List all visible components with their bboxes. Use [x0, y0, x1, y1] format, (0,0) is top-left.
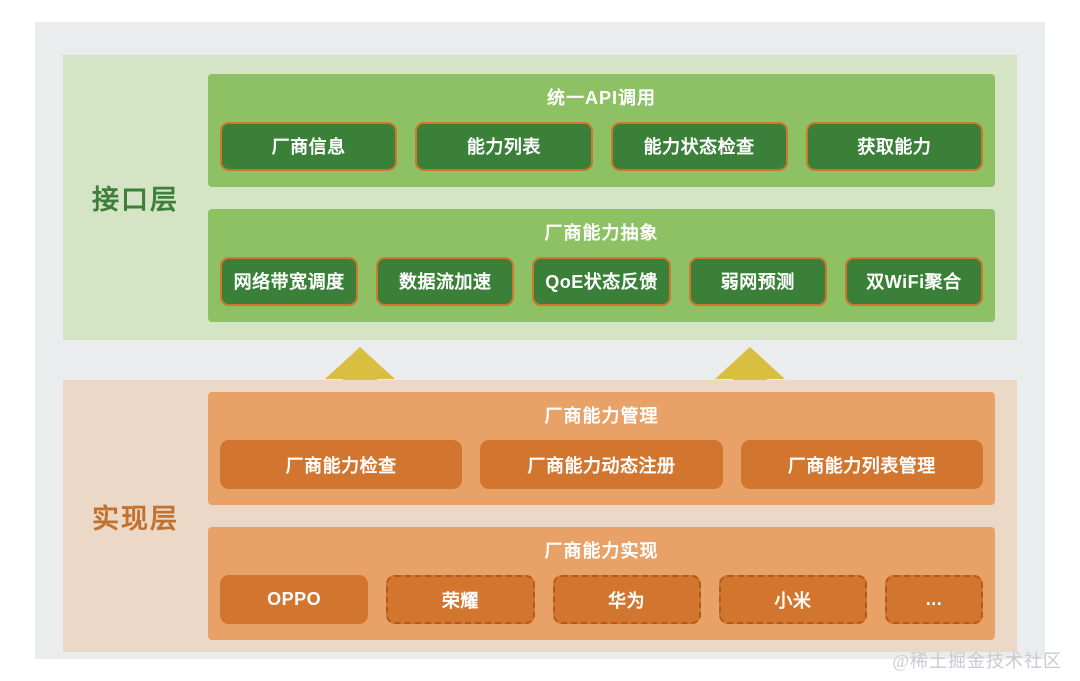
- implementation-layer-label: 实现层: [63, 380, 208, 652]
- chip-capability-status-check[interactable]: 能力状态检查: [611, 122, 788, 171]
- band-title-vendor-capability-management: 厂商能力管理: [545, 402, 659, 428]
- implementation-layer-bands: 厂商能力管理 厂商能力检查 厂商能力动态注册 厂商能力列表管理 厂商能力实现 O…: [208, 380, 1017, 652]
- interface-layer-label: 接口层: [63, 55, 208, 340]
- chip-row-vendor-capability-implementation: OPPO 荣耀 华为 小米 ...: [220, 575, 983, 624]
- band-title-unified-api: 统一API调用: [547, 84, 656, 110]
- chip-data-stream-acceleration[interactable]: 数据流加速: [376, 257, 514, 306]
- chip-weak-network-prediction[interactable]: 弱网预测: [689, 257, 827, 306]
- interface-layer-panel: 接口层 统一API调用 厂商信息 能力列表 能力状态检查 获取能力 厂商能力抽象…: [63, 55, 1017, 340]
- chip-vendor-huawei[interactable]: 华为: [553, 575, 701, 624]
- chip-vendor-more[interactable]: ...: [885, 575, 983, 624]
- band-unified-api: 统一API调用 厂商信息 能力列表 能力状态检查 获取能力: [208, 74, 995, 187]
- band-title-vendor-capability-abstraction: 厂商能力抽象: [545, 219, 659, 245]
- implementation-layer-panel: 实现层 厂商能力管理 厂商能力检查 厂商能力动态注册 厂商能力列表管理 厂商能力…: [63, 380, 1017, 652]
- chip-network-bandwidth-scheduling[interactable]: 网络带宽调度: [220, 257, 358, 306]
- watermark: @稀土掘金技术社区: [892, 647, 1062, 673]
- diagram-canvas: 接口层 统一API调用 厂商信息 能力列表 能力状态检查 获取能力 厂商能力抽象…: [35, 22, 1045, 659]
- band-vendor-capability-management: 厂商能力管理 厂商能力检查 厂商能力动态注册 厂商能力列表管理: [208, 392, 995, 505]
- chip-vendor-info[interactable]: 厂商信息: [220, 122, 397, 171]
- interface-layer-bands: 统一API调用 厂商信息 能力列表 能力状态检查 获取能力 厂商能力抽象 网络带…: [208, 55, 1017, 340]
- chip-dual-wifi-aggregation[interactable]: 双WiFi聚合: [845, 257, 983, 306]
- chip-vendor-oppo[interactable]: OPPO: [220, 575, 368, 624]
- chip-vendor-capability-list-management[interactable]: 厂商能力列表管理: [741, 440, 983, 489]
- band-vendor-capability-abstraction: 厂商能力抽象 网络带宽调度 数据流加速 QoE状态反馈 弱网预测 双WiFi聚合: [208, 209, 995, 322]
- chip-vendor-capability-dynamic-registration[interactable]: 厂商能力动态注册: [480, 440, 722, 489]
- chip-row-vendor-capability-management: 厂商能力检查 厂商能力动态注册 厂商能力列表管理: [220, 440, 983, 489]
- chip-row-vendor-capability-abstraction: 网络带宽调度 数据流加速 QoE状态反馈 弱网预测 双WiFi聚合: [220, 257, 983, 306]
- band-title-vendor-capability-implementation: 厂商能力实现: [545, 537, 659, 563]
- chip-qoe-status-feedback[interactable]: QoE状态反馈: [532, 257, 670, 306]
- chip-capability-list[interactable]: 能力列表: [415, 122, 592, 171]
- chip-vendor-honor[interactable]: 荣耀: [386, 575, 534, 624]
- chip-get-capability[interactable]: 获取能力: [806, 122, 983, 171]
- chip-row-unified-api: 厂商信息 能力列表 能力状态检查 获取能力: [220, 122, 983, 171]
- chip-vendor-capability-check[interactable]: 厂商能力检查: [220, 440, 462, 489]
- band-vendor-capability-implementation: 厂商能力实现 OPPO 荣耀 华为 小米 ...: [208, 527, 995, 640]
- chip-vendor-xiaomi[interactable]: 小米: [719, 575, 867, 624]
